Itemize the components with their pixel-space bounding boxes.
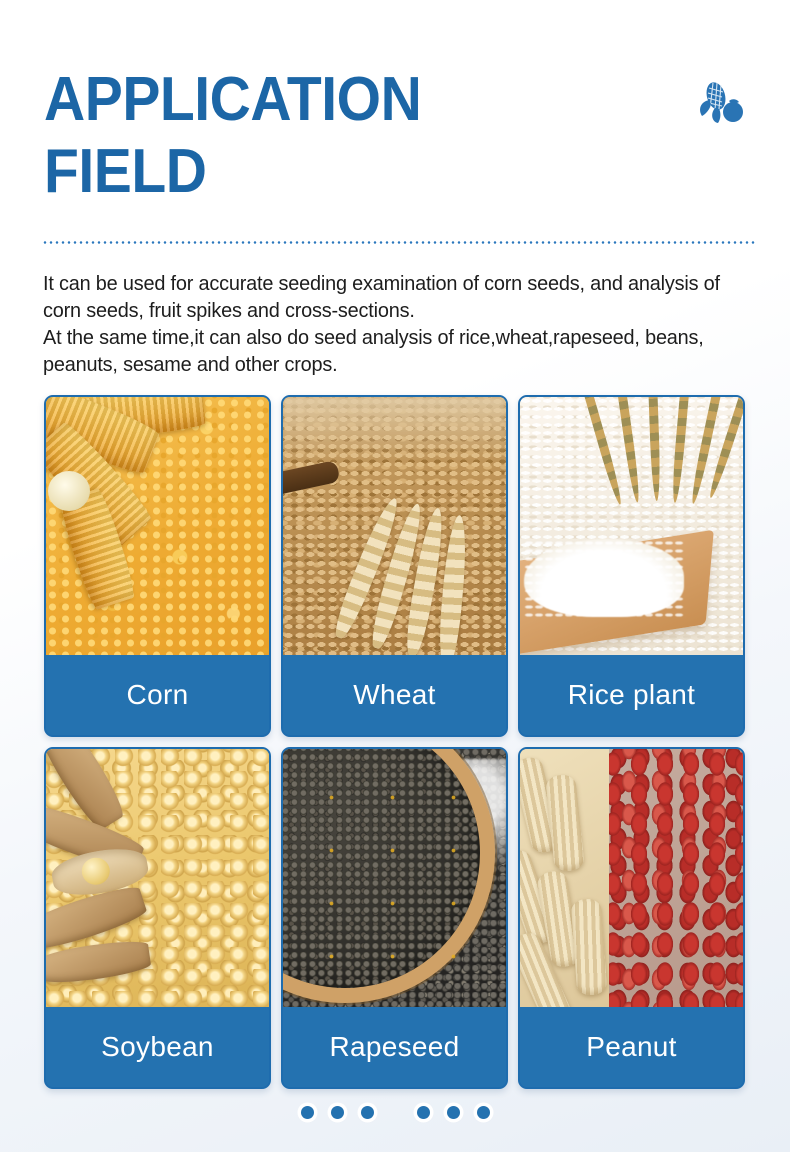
pagination-dot-group-2[interactable] [417,1106,490,1119]
page-title: APPLICATION FIELD [44,64,559,208]
pagination-dots[interactable] [0,1106,790,1119]
card-soybean[interactable]: Soybean [44,747,271,1089]
description-paragraph-2: At the same time,it can also do seed ana… [43,324,741,378]
pagination-dot-5[interactable] [447,1106,460,1119]
card-row-1: Corn Wheat [44,395,746,737]
card-corn[interactable]: Corn [44,395,271,737]
card-label-soybean: Soybean [46,1007,269,1087]
description-text: It can be used for accurate seeding exam… [43,270,741,378]
card-label-peanut: Peanut [520,1007,743,1087]
pagination-dot-2[interactable] [331,1106,344,1119]
pagination-dot-4[interactable] [417,1106,430,1119]
card-label-wheat: Wheat [283,655,506,735]
dotted-divider [42,241,755,244]
pagination-dot-group-1[interactable] [301,1106,374,1119]
peanut-photo [520,749,743,1007]
wheat-photo [283,397,506,655]
soybean-photo [46,749,269,1007]
corn-icon [696,78,748,130]
card-row-2: Soybean Rapeseed [44,747,746,1089]
description-paragraph-1: It can be used for accurate seeding exam… [43,270,741,324]
card-label-rice-plant: Rice plant [520,655,743,735]
card-peanut[interactable]: Peanut [518,747,745,1089]
rapeseed-photo [283,749,506,1007]
page-header: APPLICATION FIELD [0,0,790,235]
page-title-line-2: FIELD [44,136,559,208]
pagination-dot-3[interactable] [361,1106,374,1119]
page-title-line-1: APPLICATION [44,65,421,134]
corn-photo [46,397,269,655]
card-rapeseed[interactable]: Rapeseed [281,747,508,1089]
application-card-grid: Corn Wheat [44,395,746,1099]
pagination-dot-6[interactable] [477,1106,490,1119]
card-wheat[interactable]: Wheat [281,395,508,737]
card-rice-plant[interactable]: Rice plant [518,395,745,737]
pagination-dot-1[interactable] [301,1106,314,1119]
card-label-corn: Corn [46,655,269,735]
rice-photo [520,397,743,655]
card-label-rapeseed: Rapeseed [283,1007,506,1087]
